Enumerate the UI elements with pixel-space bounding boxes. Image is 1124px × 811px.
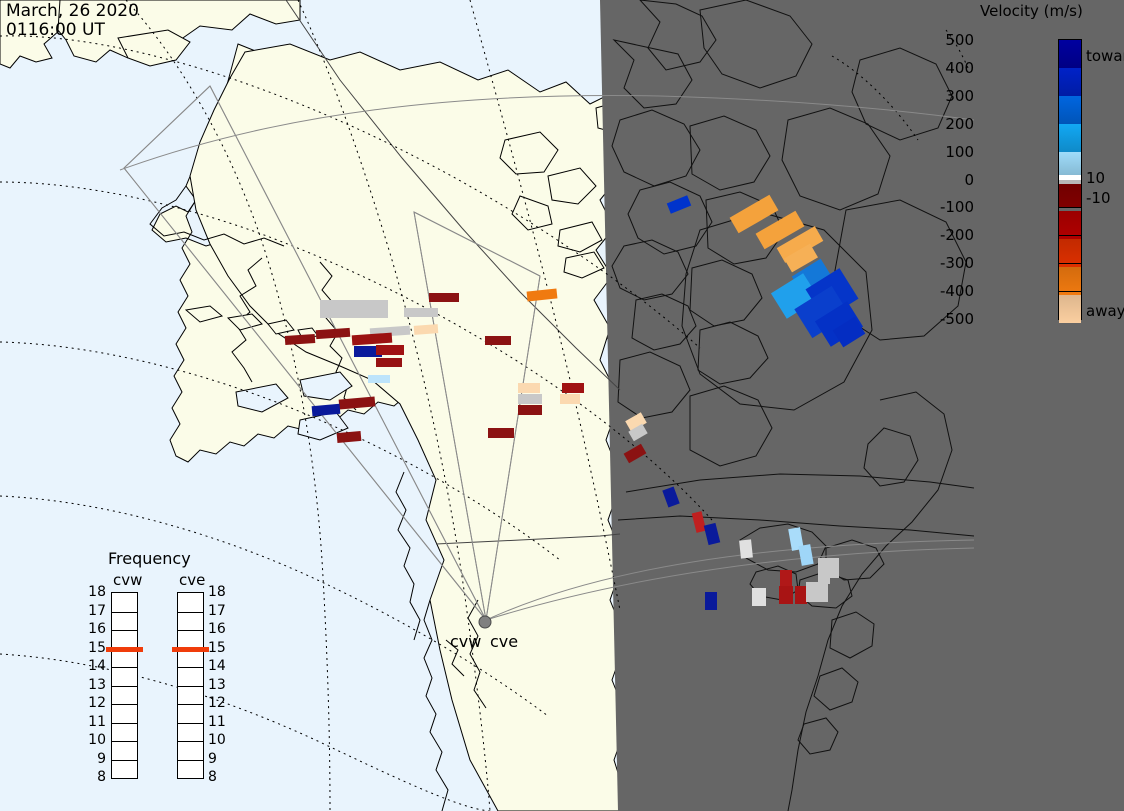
frequency-cell-divider [178,704,203,705]
colorbar-band-toward-2 [1059,96,1081,124]
velocity-colorbar[interactable] [1058,39,1082,320]
colorbar-tick--100: -100 [940,198,974,216]
frequency-cell-divider [112,704,137,705]
frequency-tick-cve-13: 13 [208,677,226,693]
radar-cell [368,375,390,383]
colorbar-tick-100: 100 [945,143,974,161]
timestamp-block: March, 26 20200116:00 UT [6,2,139,40]
colorbar-tick--200: -200 [940,226,974,244]
frequency-tick-cve-12: 12 [208,695,226,711]
colorbar-divider [1059,263,1081,264]
radar-cell [779,586,793,604]
radar-cell [320,300,388,318]
frequency-cell-divider [112,760,137,761]
colorbar-band-toward-0 [1059,40,1081,68]
colorbar-divider [1059,207,1081,208]
radar-cell [429,293,459,302]
frequency-bar-cve[interactable] [177,592,204,779]
frequency-legend: Frequency cvw cve 18171615141312111098 1… [80,545,250,790]
radar-cell [562,383,584,393]
frequency-marker-cvw [106,647,143,652]
colorbar-tick-200: 200 [945,115,974,133]
frequency-cell-divider [112,741,137,742]
colorbar-divider [1059,235,1081,236]
frequency-tick-cvw-8: 8 [86,769,106,785]
frequency-tick-cve-17: 17 [208,603,226,619]
frequency-legend-title: Frequency [108,549,191,568]
radar-cell [752,588,766,606]
radar-cell [485,336,511,345]
colorbar-band-away-4 [1059,295,1081,323]
radar-cell [560,394,580,404]
colorbar-title: Velocity (m/s) [980,2,1124,20]
frequency-cell-divider [112,630,137,631]
frequency-tick-cve-14: 14 [208,658,226,674]
frequency-tick-cve-9: 9 [208,751,217,767]
colorbar-lower-threshold-label: -10 [1086,189,1111,207]
frequency-tick-cvw-9: 9 [86,751,106,767]
frequency-tick-cvw-15: 15 [86,640,106,656]
colorbar-band-toward-3 [1059,124,1081,152]
frequency-tick-cvw-18: 18 [86,584,106,600]
radar-site-marker[interactable] [479,616,491,628]
colorbar-toward-label: toward [1086,47,1124,65]
colorbar-divider [1059,291,1081,292]
frequency-tick-cvw-13: 13 [86,677,106,693]
colorbar-neutral-band [1059,175,1081,184]
map-canvas[interactable]: March, 26 20200116:00 UT cvw cve Frequen… [0,0,974,811]
colorbar-band-away-0 [1059,184,1081,208]
timestamp-date: March, 26 2020 [6,1,139,21]
frequency-cell-divider [112,667,137,668]
frequency-tick-cve-11: 11 [208,714,226,730]
colorbar-tick--300: -300 [940,254,974,272]
frequency-cell-divider [112,686,137,687]
frequency-tick-cvw-10: 10 [86,732,106,748]
frequency-tick-cve-10: 10 [208,732,226,748]
colorbar-tick-500: 500 [945,31,974,49]
frequency-bar-cvw[interactable] [111,592,138,779]
colorbar-tick--400: -400 [940,282,974,300]
radar-cell [806,582,828,602]
colorbar-tick-0: 0 [964,171,974,189]
frequency-tick-cvw-16: 16 [86,621,106,637]
colorbar-away-label: away [1086,302,1124,320]
frequency-cell-divider [178,760,203,761]
frequency-cell-divider [112,612,137,613]
radar-cell [488,428,514,438]
radar-cell [337,431,362,443]
radar-cell [518,383,540,393]
frequency-cell-divider [178,723,203,724]
timestamp-time: 0116:00 UT [6,20,105,40]
frequency-column-header-cvw: cvw [113,571,142,589]
frequency-cell-divider [178,741,203,742]
radar-cell [795,586,807,604]
site-label-cvw: cvw [450,632,481,651]
radar-cell [705,592,717,610]
radar-cell [739,539,753,558]
frequency-tick-cve-15: 15 [208,640,226,656]
frequency-column-header-cve: cve [179,571,205,589]
frequency-tick-cvw-14: 14 [86,658,106,674]
colorbar-band-toward-1 [1059,68,1081,96]
frequency-cell-divider [178,667,203,668]
frequency-cell-divider [178,686,203,687]
frequency-marker-cve [172,647,209,652]
radar-cell [376,345,404,355]
radar-cell [404,308,438,317]
colorbar-upper-threshold-label: 10 [1086,169,1105,187]
frequency-cell-divider [178,612,203,613]
frequency-tick-cvw-17: 17 [86,603,106,619]
radar-velocity-map-app: March, 26 20200116:00 UT cvw cve Frequen… [0,0,1124,811]
night-terminator-region [600,0,974,811]
radar-cell [376,358,402,367]
radar-cell [827,558,839,578]
site-label-cve: cve [490,632,518,651]
radar-cell [414,324,439,335]
radar-cell [518,405,542,415]
radar-cell [780,570,792,588]
frequency-tick-cvw-11: 11 [86,714,106,730]
frequency-tick-cve-16: 16 [208,621,226,637]
frequency-cell-divider [178,630,203,631]
colorbar-tick--500: -500 [940,310,974,328]
colorbar-tick-300: 300 [945,87,974,105]
frequency-cell-divider [112,723,137,724]
radar-cell [518,394,542,404]
frequency-tick-cve-18: 18 [208,584,226,600]
colorbar-tick-400: 400 [945,59,974,77]
colorbar-panel: Velocity (m/s) 5004003002001000-100-200-… [974,0,1124,811]
frequency-tick-cvw-12: 12 [86,695,106,711]
frequency-tick-cve-8: 8 [208,769,217,785]
